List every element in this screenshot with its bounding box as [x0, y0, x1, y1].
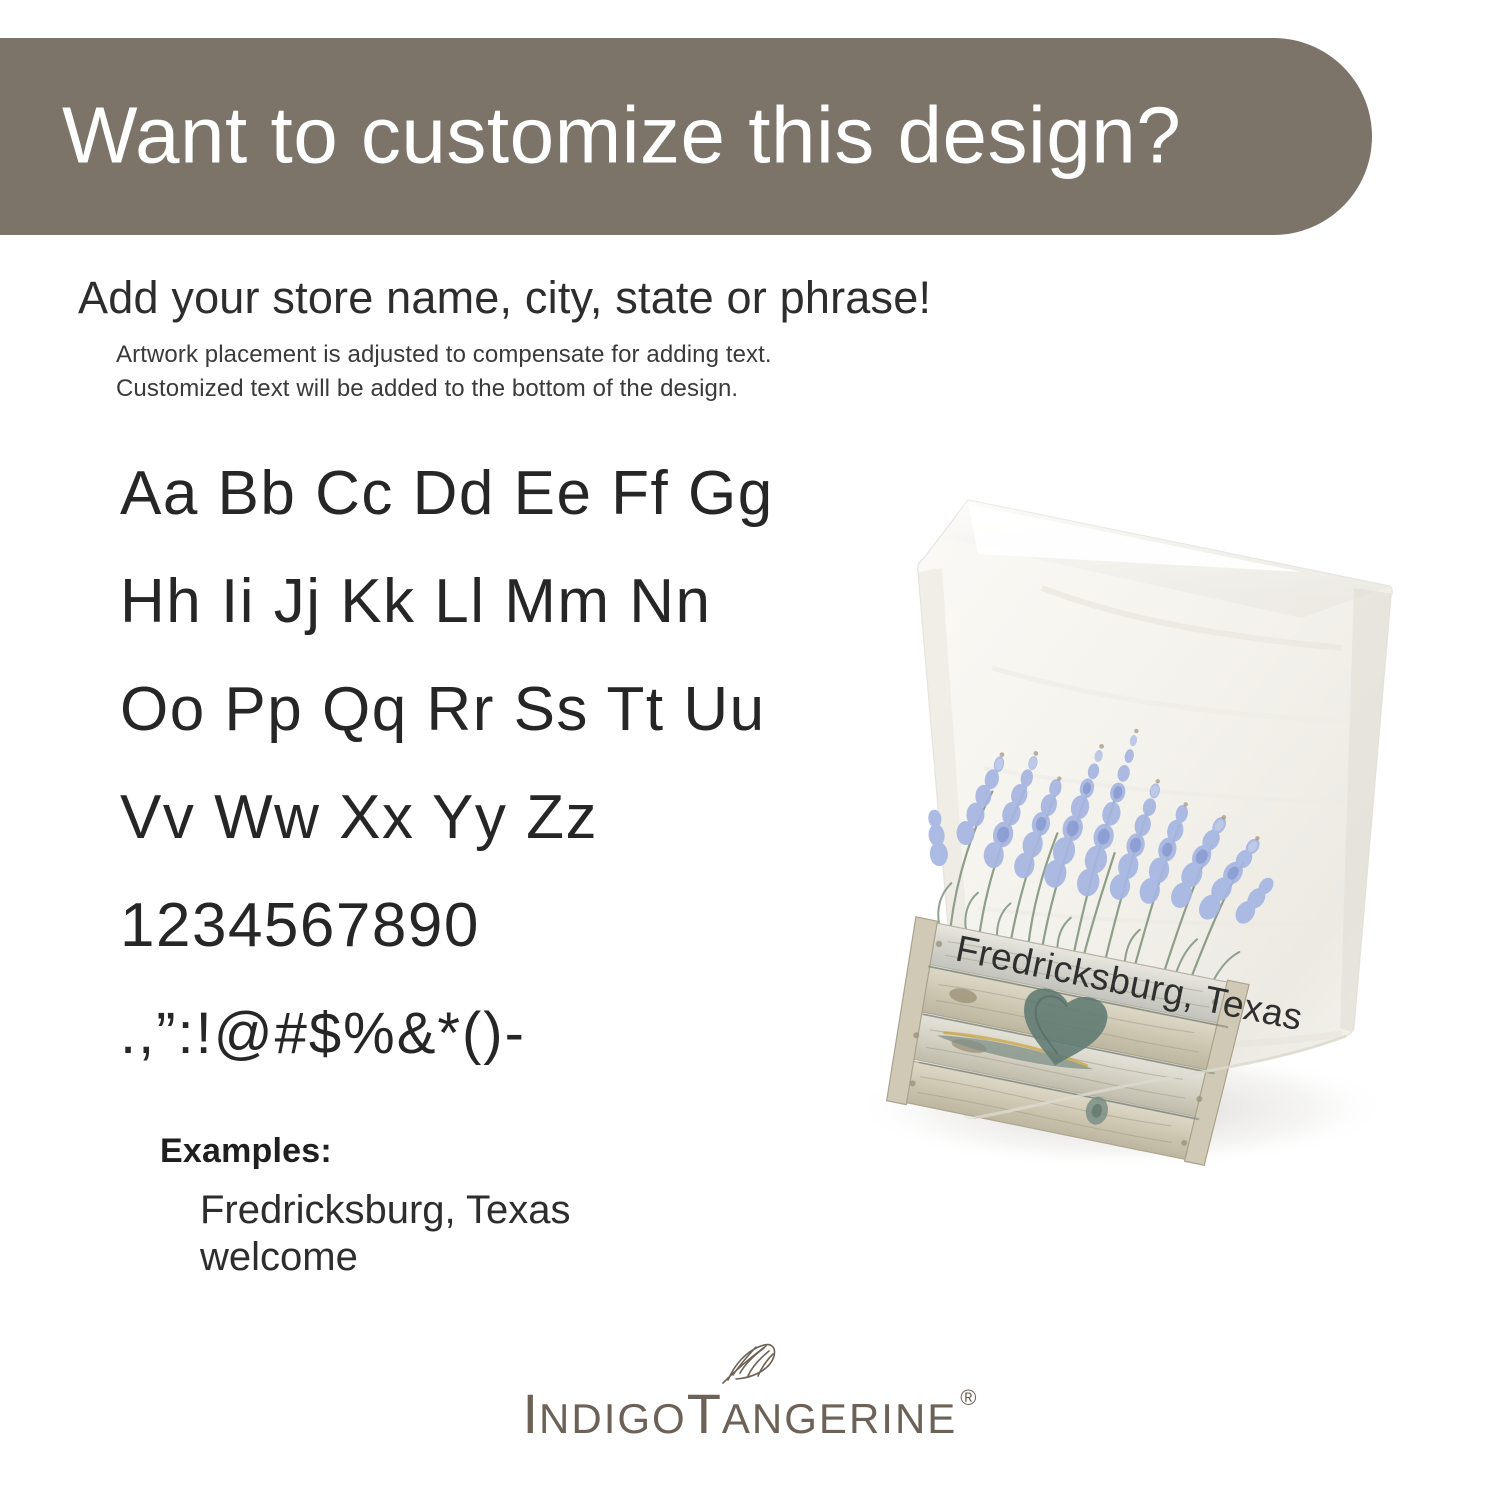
lead-instruction: Add your store name, city, state or phra… [78, 272, 931, 324]
leaf-icon [720, 1340, 780, 1384]
examples-block: Examples: Fredricksburg, Texas welcome [160, 1132, 571, 1281]
brand-wordmark: I NDIGO T ANGERINE ® [522, 1386, 977, 1442]
example-item-1: Fredricksburg, Texas [200, 1187, 571, 1234]
product-photo-tea-towel: Fredricksburg, Texas [742, 468, 1422, 1208]
brand-text-ndigo: NDIGO [539, 1398, 687, 1440]
brand-letter-i: I [522, 1386, 539, 1442]
header-banner: Want to customize this design? [0, 38, 1372, 235]
placement-note-line-1: Artwork placement is adjusted to compens… [116, 338, 772, 372]
brand-logo: I NDIGO T ANGERINE ® [0, 1340, 1500, 1442]
placement-note-line-2: Customized text will be added to the bot… [116, 372, 772, 406]
examples-label: Examples: [160, 1132, 571, 1171]
brand-text-angerine: ANGERINE [722, 1398, 957, 1440]
registered-trademark-icon: ® [960, 1387, 977, 1409]
examples-list: Fredricksburg, Texas welcome [200, 1187, 571, 1281]
customization-info-graphic: Want to customize this design? Add your … [0, 0, 1500, 1500]
page-title: Want to customize this design? [62, 95, 1181, 175]
brand-letter-t: T [687, 1386, 722, 1442]
placement-notes: Artwork placement is adjusted to compens… [116, 338, 772, 406]
towel-illustration: Fredricksburg, Texas [742, 468, 1422, 1208]
example-item-2: welcome [200, 1234, 571, 1281]
